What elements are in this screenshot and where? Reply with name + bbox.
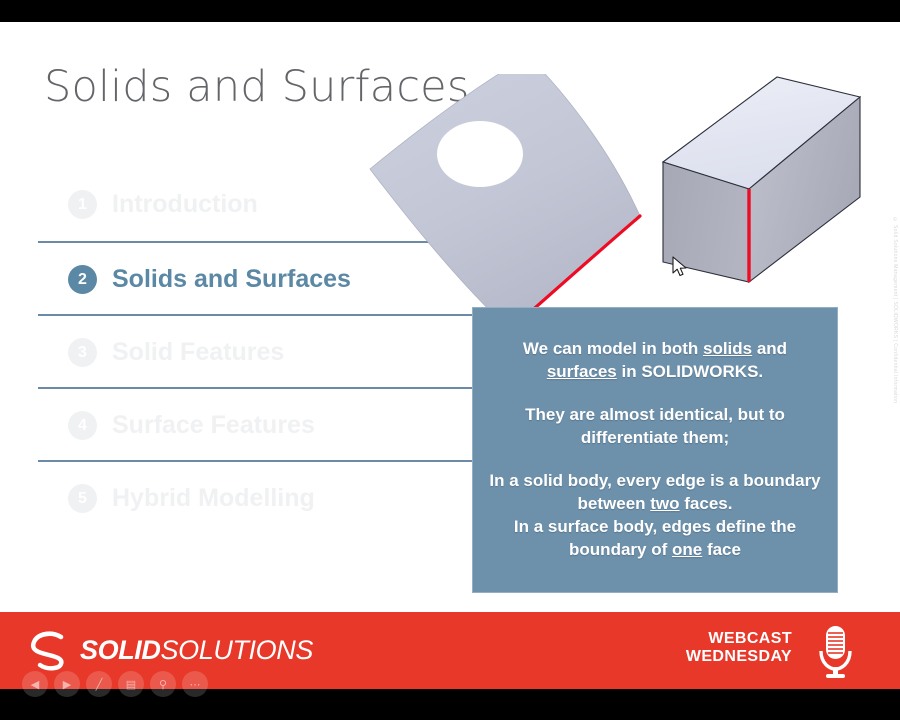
panel-text-3: They are almost identical, but to xyxy=(525,405,785,424)
agenda-badge-1: 1 xyxy=(68,190,97,219)
panel-text-1b: and xyxy=(752,339,787,358)
search-button[interactable]: ⚲ xyxy=(150,671,176,697)
swirl-s-icon xyxy=(28,628,72,672)
agenda-item-solid-features[interactable]: 3 Solid Features xyxy=(38,314,472,387)
panel-text-6a: between xyxy=(578,494,651,513)
agenda-badge-5: 5 xyxy=(68,484,97,513)
previous-button[interactable]: ◀ xyxy=(22,671,48,697)
agenda-list: 1 Introduction 2 Solids and Surfaces 3 S… xyxy=(38,168,472,533)
panel-text-2b: in SOLIDWORKS. xyxy=(617,362,763,381)
mouse-cursor-icon xyxy=(672,256,690,280)
agenda-label-1: Introduction xyxy=(112,190,258,219)
letterbox-top xyxy=(0,0,900,22)
agenda-badge-2: 2 xyxy=(68,265,97,294)
webcast-line-1: WEBCAST xyxy=(686,630,792,648)
agenda-label-2: Solids and Surfaces xyxy=(112,265,351,294)
agenda-label-5: Hybrid Modelling xyxy=(112,484,315,513)
pen-button[interactable]: ╱ xyxy=(86,671,112,697)
solid-body-cube xyxy=(663,77,860,282)
logo-bold-text: SOLID xyxy=(80,635,161,665)
page-title: Solids and Surfaces xyxy=(44,62,469,112)
agenda-label-3: Solid Features xyxy=(112,338,284,367)
webcast-line-2: WEDNESDAY xyxy=(686,648,792,666)
slide-canvas[interactable]: Solids and Surfaces 1 Introduction 2 Sol… xyxy=(0,22,900,612)
webcast-wednesday-label: WEBCAST WEDNESDAY xyxy=(686,630,792,667)
notes-button[interactable]: ▤ xyxy=(118,671,144,697)
panel-text-8b: face xyxy=(702,540,741,559)
agenda-badge-4: 4 xyxy=(68,411,97,440)
panel-text-6b: faces. xyxy=(680,494,733,513)
panel-text-1u: solids xyxy=(703,339,752,358)
microphone-icon xyxy=(806,622,864,680)
panel-paragraph-1: We can model in both solids and surfaces… xyxy=(523,338,787,384)
panel-text-7: In a surface body, edges define the xyxy=(514,517,796,536)
panel-text-4: differentiate them; xyxy=(581,428,729,447)
copyright-watermark: © Solid Solutions Management | SOLIDWORK… xyxy=(892,217,898,403)
agenda-label-4: Surface Features xyxy=(112,411,315,440)
logo-light-text: SOLUTIONS xyxy=(161,635,313,665)
logo-wordmark: SOLIDSOLUTIONS xyxy=(80,635,313,666)
agenda-item-surface-features[interactable]: 4 Surface Features xyxy=(38,387,472,460)
explanation-panel: We can model in both solids and surfaces… xyxy=(472,307,838,593)
panel-paragraph-2: They are almost identical, but to differ… xyxy=(525,404,785,450)
panel-text-8u: one xyxy=(672,540,702,559)
panel-paragraph-3: In a solid body, every edge is a boundar… xyxy=(489,470,820,562)
panel-text-6u: two xyxy=(650,494,679,513)
presentation-viewer: Solids and Surfaces 1 Introduction 2 Sol… xyxy=(0,0,900,720)
play-button[interactable]: ▶ xyxy=(54,671,80,697)
panel-text-1a: We can model in both xyxy=(523,339,703,358)
panel-text-2u: surfaces xyxy=(547,362,617,381)
agenda-item-solids-and-surfaces[interactable]: 2 Solids and Surfaces xyxy=(38,241,472,314)
player-controls[interactable]: ◀ ▶ ╱ ▤ ⚲ ⋯ xyxy=(22,671,208,697)
agenda-item-hybrid-modelling[interactable]: 5 Hybrid Modelling xyxy=(38,460,472,533)
solid-solutions-logo: SOLIDSOLUTIONS xyxy=(28,628,313,672)
agenda-item-introduction[interactable]: 1 Introduction xyxy=(38,168,472,241)
panel-text-5: In a solid body, every edge is a boundar… xyxy=(489,471,820,490)
more-button[interactable]: ⋯ xyxy=(182,671,208,697)
agenda-badge-3: 3 xyxy=(68,338,97,367)
panel-text-8a: boundary of xyxy=(569,540,672,559)
